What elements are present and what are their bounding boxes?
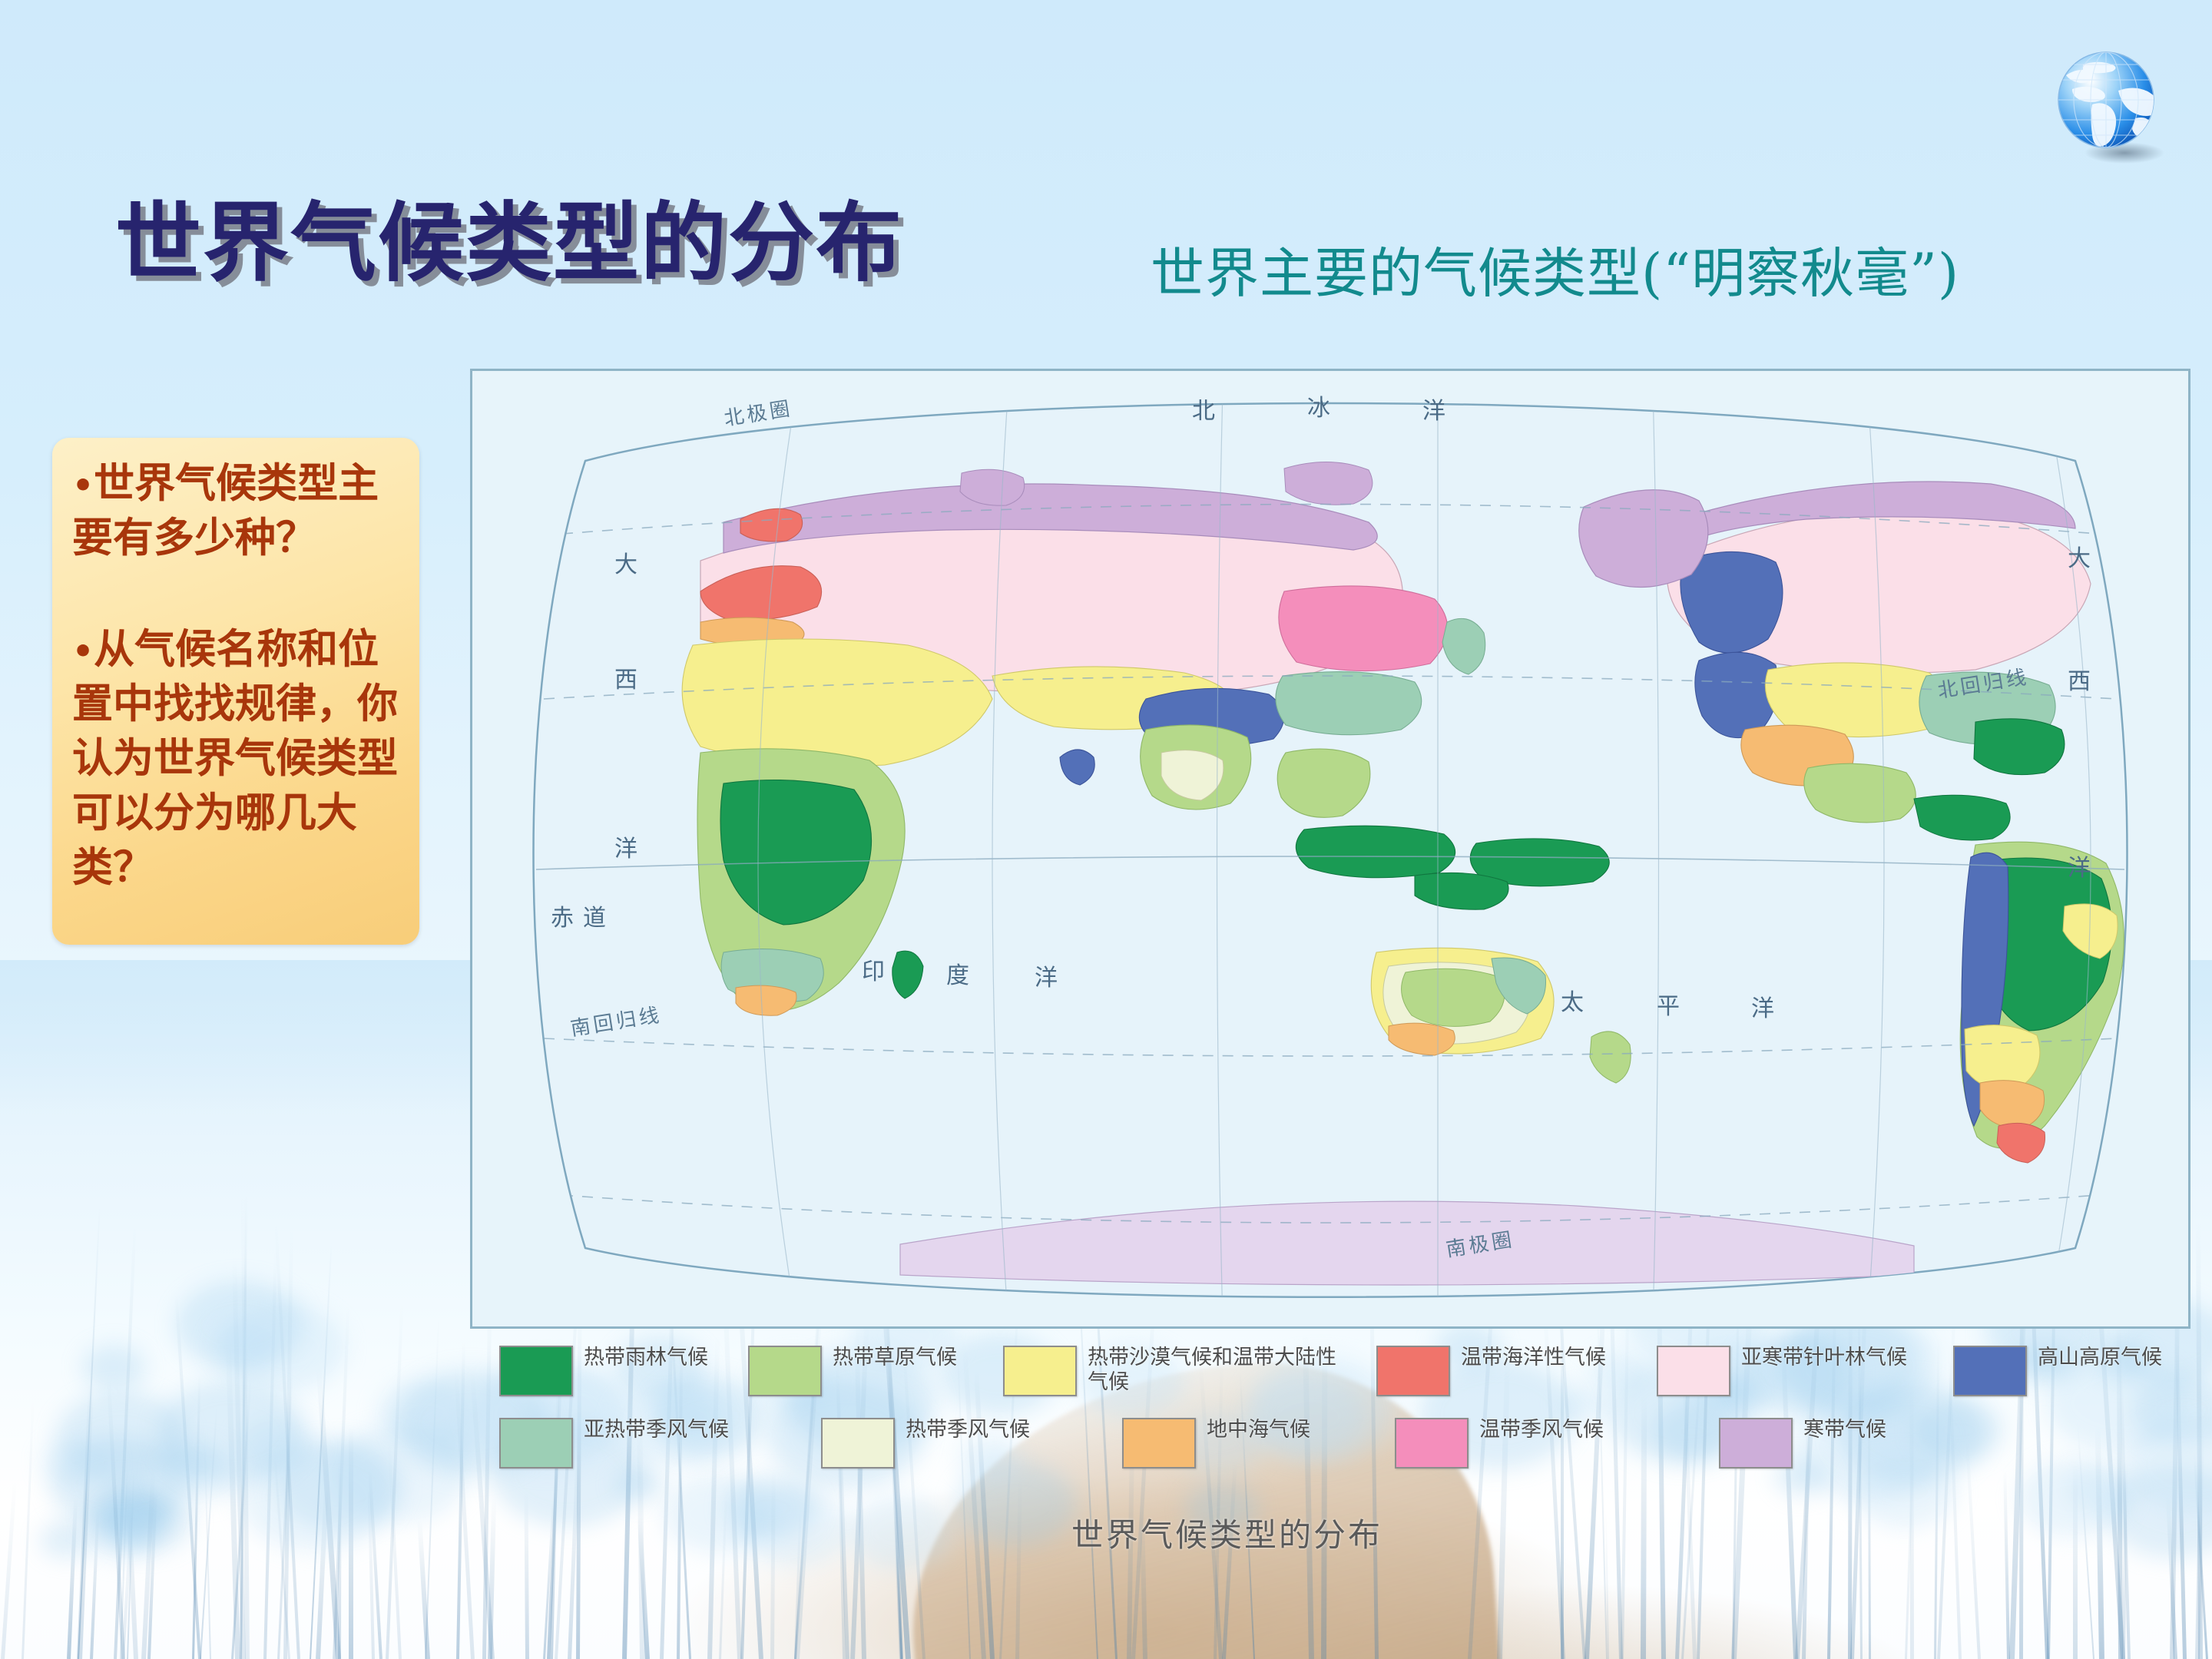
legend-swatch — [1395, 1418, 1469, 1469]
map-graphic — [470, 369, 2190, 1329]
legend-label: 温带海洋性气候 — [1461, 1346, 1606, 1370]
bullet-icon: • — [72, 632, 94, 671]
map-label: 洋 — [614, 829, 647, 863]
map-label: 平 — [1657, 987, 1689, 1021]
map-label: 太 — [1561, 983, 1593, 1017]
map-label: 西 — [614, 661, 647, 694]
legend-item: 亚寒带针叶林气候 — [1657, 1346, 1907, 1396]
question-text-2: 从气候名称和位置中找找规律，你认为世界气候类型可以分为哪几大类？ — [72, 625, 398, 891]
map-legend: 热带雨林气候热带草原气候热带沙漠气候和温带大陆性气候温带海洋性气候亚寒带针叶林气… — [499, 1346, 2174, 1492]
legend-item: 热带雨林气候 — [499, 1346, 708, 1396]
legend-swatch — [1376, 1346, 1450, 1396]
map-label: 洋 — [1751, 989, 1783, 1023]
legend-item: 热带季风气候 — [821, 1418, 1030, 1469]
map-label: 赤道 — [551, 899, 615, 932]
legend-row-1: 热带雨林气候热带草原气候热带沙漠气候和温带大陆性气候温带海洋性气候亚寒带针叶林气… — [499, 1346, 2174, 1413]
legend-row-2: 亚热带季风气候热带季风气候地中海气候温带季风气候寒带气候 — [499, 1418, 2174, 1485]
legend-swatch — [499, 1346, 573, 1396]
map-label: 北 — [1192, 392, 1224, 426]
legend-swatch — [821, 1418, 895, 1469]
legend-swatch — [1003, 1346, 1077, 1396]
map-label: 度 — [946, 956, 979, 990]
map-label: 洋 — [1035, 959, 1067, 992]
legend-item: 温带海洋性气候 — [1376, 1346, 1606, 1396]
legend-label: 热带草原气候 — [833, 1346, 957, 1370]
map-label: 西 — [2068, 662, 2100, 696]
legend-label: 亚寒带针叶林气候 — [1741, 1346, 1907, 1370]
map-label: 洋 — [1422, 392, 1455, 426]
legend-swatch — [499, 1418, 573, 1469]
legend-label: 热带季风气候 — [906, 1418, 1030, 1442]
page-subtitle: 世界主要的气候类型(“明察秋毫”) — [1151, 230, 1959, 308]
legend-swatch — [1122, 1418, 1196, 1469]
legend-swatch — [1953, 1346, 2027, 1396]
legend-label: 亚热带季风气候 — [584, 1418, 729, 1442]
globe-icon — [2045, 45, 2180, 175]
legend-item: 地中海气候 — [1122, 1418, 1310, 1469]
map-canvas: 北冰洋大西洋大西洋印度洋太平洋北极圈北回归线赤道南回归线南极圈 — [470, 369, 2190, 1329]
legend-swatch — [748, 1346, 822, 1396]
legend-item: 高山高原气候 — [1953, 1346, 2162, 1396]
legend-item: 温带季风气候 — [1395, 1418, 1604, 1469]
map-label: 大 — [2068, 539, 2100, 573]
question-box: •世界气候类型主要有多少种？ •从气候名称和位置中找找规律，你认为世界气候类型可… — [52, 438, 419, 945]
map-label: 冰 — [1307, 389, 1339, 422]
map-caption: 世界气候类型的分布 — [1071, 1509, 1382, 1556]
question-item-1: •世界气候类型主要有多少种？ — [72, 456, 407, 565]
legend-label: 地中海气候 — [1207, 1418, 1310, 1442]
map-label: 大 — [614, 545, 647, 579]
map-label: 洋 — [2068, 849, 2100, 882]
legend-label: 热带雨林气候 — [584, 1346, 708, 1370]
legend-label: 高山高原气候 — [2038, 1346, 2162, 1370]
legend-item: 亚热带季风气候 — [499, 1418, 729, 1469]
legend-swatch — [1719, 1418, 1793, 1469]
legend-swatch — [1657, 1346, 1730, 1396]
question-item-2: •从气候名称和位置中找找规律，你认为世界气候类型可以分为哪几大类？ — [72, 622, 407, 895]
question-text-1: 世界气候类型主要有多少种？ — [72, 459, 379, 561]
legend-label: 热带沙漠气候和温带大陆性气候 — [1088, 1346, 1341, 1395]
legend-item: 寒带气候 — [1719, 1418, 1886, 1469]
world-climate-map: 北冰洋大西洋大西洋印度洋太平洋北极圈北回归线赤道南回归线南极圈 — [470, 369, 2190, 1329]
page-title: 世界气候类型的分布 — [115, 174, 903, 298]
legend-item: 热带沙漠气候和温带大陆性气候 — [1003, 1346, 1341, 1396]
map-label: 印 — [862, 952, 894, 986]
legend-item: 热带草原气候 — [748, 1346, 957, 1396]
legend-label: 寒带气候 — [1803, 1418, 1886, 1442]
legend-label: 温带季风气候 — [1479, 1418, 1604, 1442]
bullet-icon: • — [72, 466, 94, 505]
